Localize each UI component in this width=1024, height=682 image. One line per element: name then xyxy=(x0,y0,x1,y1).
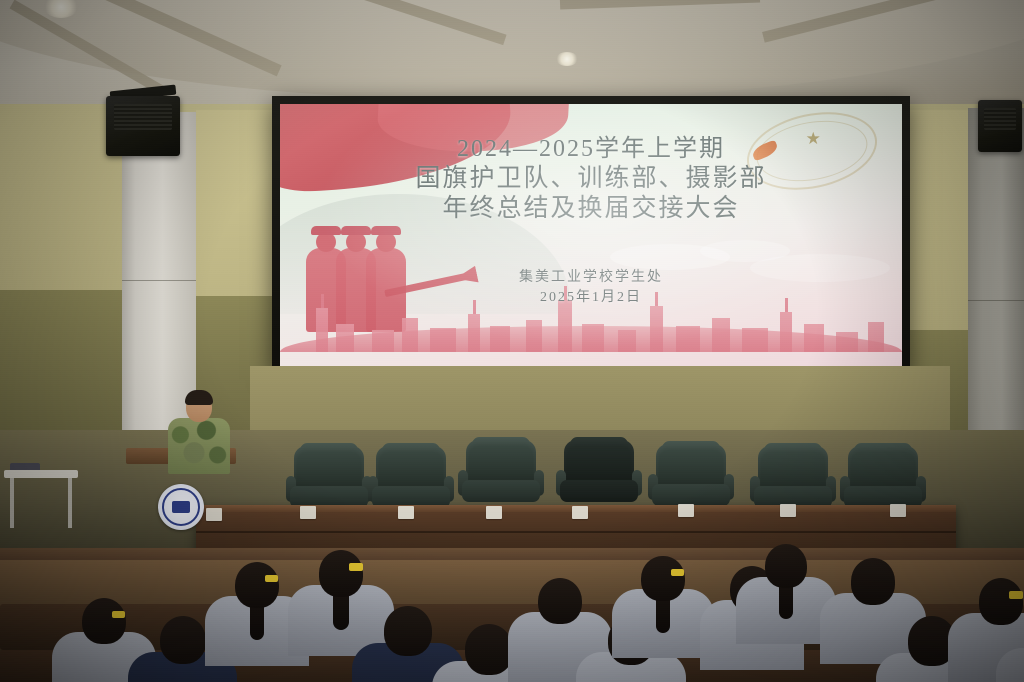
slide-title-line-1: 2024—2025学年上学期 xyxy=(280,134,902,164)
projection-screen-frame: ★ xyxy=(272,96,910,374)
name-placard xyxy=(572,506,588,519)
name-placard xyxy=(398,506,414,519)
audience-person-head xyxy=(235,562,279,608)
audience-person xyxy=(612,556,714,670)
chair-seat xyxy=(560,480,638,502)
chair-back xyxy=(294,446,364,490)
soldier-cap xyxy=(371,226,401,235)
slide-title-block: 2024—2025学年上学期 国旗护卫队、训练部、摄影部 年终总结及换届交接大会 xyxy=(280,134,902,224)
chair-back xyxy=(376,446,446,490)
name-placard xyxy=(890,504,906,517)
name-placard xyxy=(486,506,502,519)
audience-person-head xyxy=(319,550,364,597)
speaker-grille xyxy=(984,108,1016,130)
audience-person-head xyxy=(384,606,432,656)
name-placard xyxy=(780,504,796,517)
audience-person-shoulders xyxy=(996,648,1024,682)
audience-hair-tie xyxy=(1009,591,1022,599)
presenter xyxy=(168,392,230,472)
wall-speaker-right xyxy=(978,96,1024,158)
pillar-seam xyxy=(122,280,196,281)
soldier-cap xyxy=(311,226,341,235)
audience-person-head xyxy=(851,558,896,605)
name-placard xyxy=(300,506,316,519)
stage-chair xyxy=(458,440,544,514)
soldier-head xyxy=(376,232,396,252)
ceiling-light xyxy=(556,52,578,66)
slide-subtitle-block: 集美工业学校学生处 2025年1月2日 xyxy=(280,268,902,308)
audience-person-head xyxy=(465,624,513,675)
audience-person-head xyxy=(160,616,206,664)
soldier-head xyxy=(316,232,336,252)
speaker-grille xyxy=(114,104,172,130)
presenter-uniform xyxy=(168,418,230,474)
audience-hair-tie xyxy=(112,611,125,618)
slide-subtitle-date: 2025年1月2日 xyxy=(280,288,902,308)
projection-screen: ★ xyxy=(280,104,902,366)
chair-seat xyxy=(652,484,730,506)
wall-shadow-left xyxy=(0,290,140,440)
soldier-cap xyxy=(341,226,371,235)
chair-back xyxy=(848,446,918,490)
audience-person-head xyxy=(82,598,126,644)
stage-chair xyxy=(556,440,642,514)
soldier-head xyxy=(346,232,366,252)
chair-seat xyxy=(462,480,540,502)
audience-rows xyxy=(0,520,1024,682)
audience-person xyxy=(996,612,1024,682)
pillar-seam xyxy=(968,300,1024,301)
slide-title-line-2: 国旗护卫队、训练部、摄影部 xyxy=(280,164,902,194)
audience-person-head xyxy=(765,544,807,588)
crest-core xyxy=(172,501,190,513)
slide-subtitle-org: 集美工业学校学生处 xyxy=(280,268,902,288)
chair-back xyxy=(656,444,726,488)
audience-hair-tie xyxy=(265,575,278,582)
slide-title-line-3: 年终总结及换届交接大会 xyxy=(280,194,902,224)
chair-back xyxy=(758,446,828,490)
audience-hair-tie xyxy=(349,563,362,571)
chair-back xyxy=(466,440,536,484)
auditorium-photo: ★ xyxy=(0,0,1024,682)
audience-person-head xyxy=(641,556,684,601)
table-top xyxy=(4,470,78,478)
audience-hair-tie xyxy=(671,569,684,576)
wall-speaker-left xyxy=(100,88,186,162)
chair-back xyxy=(564,440,634,484)
name-placard xyxy=(678,504,694,517)
presenter-hair xyxy=(185,390,213,405)
